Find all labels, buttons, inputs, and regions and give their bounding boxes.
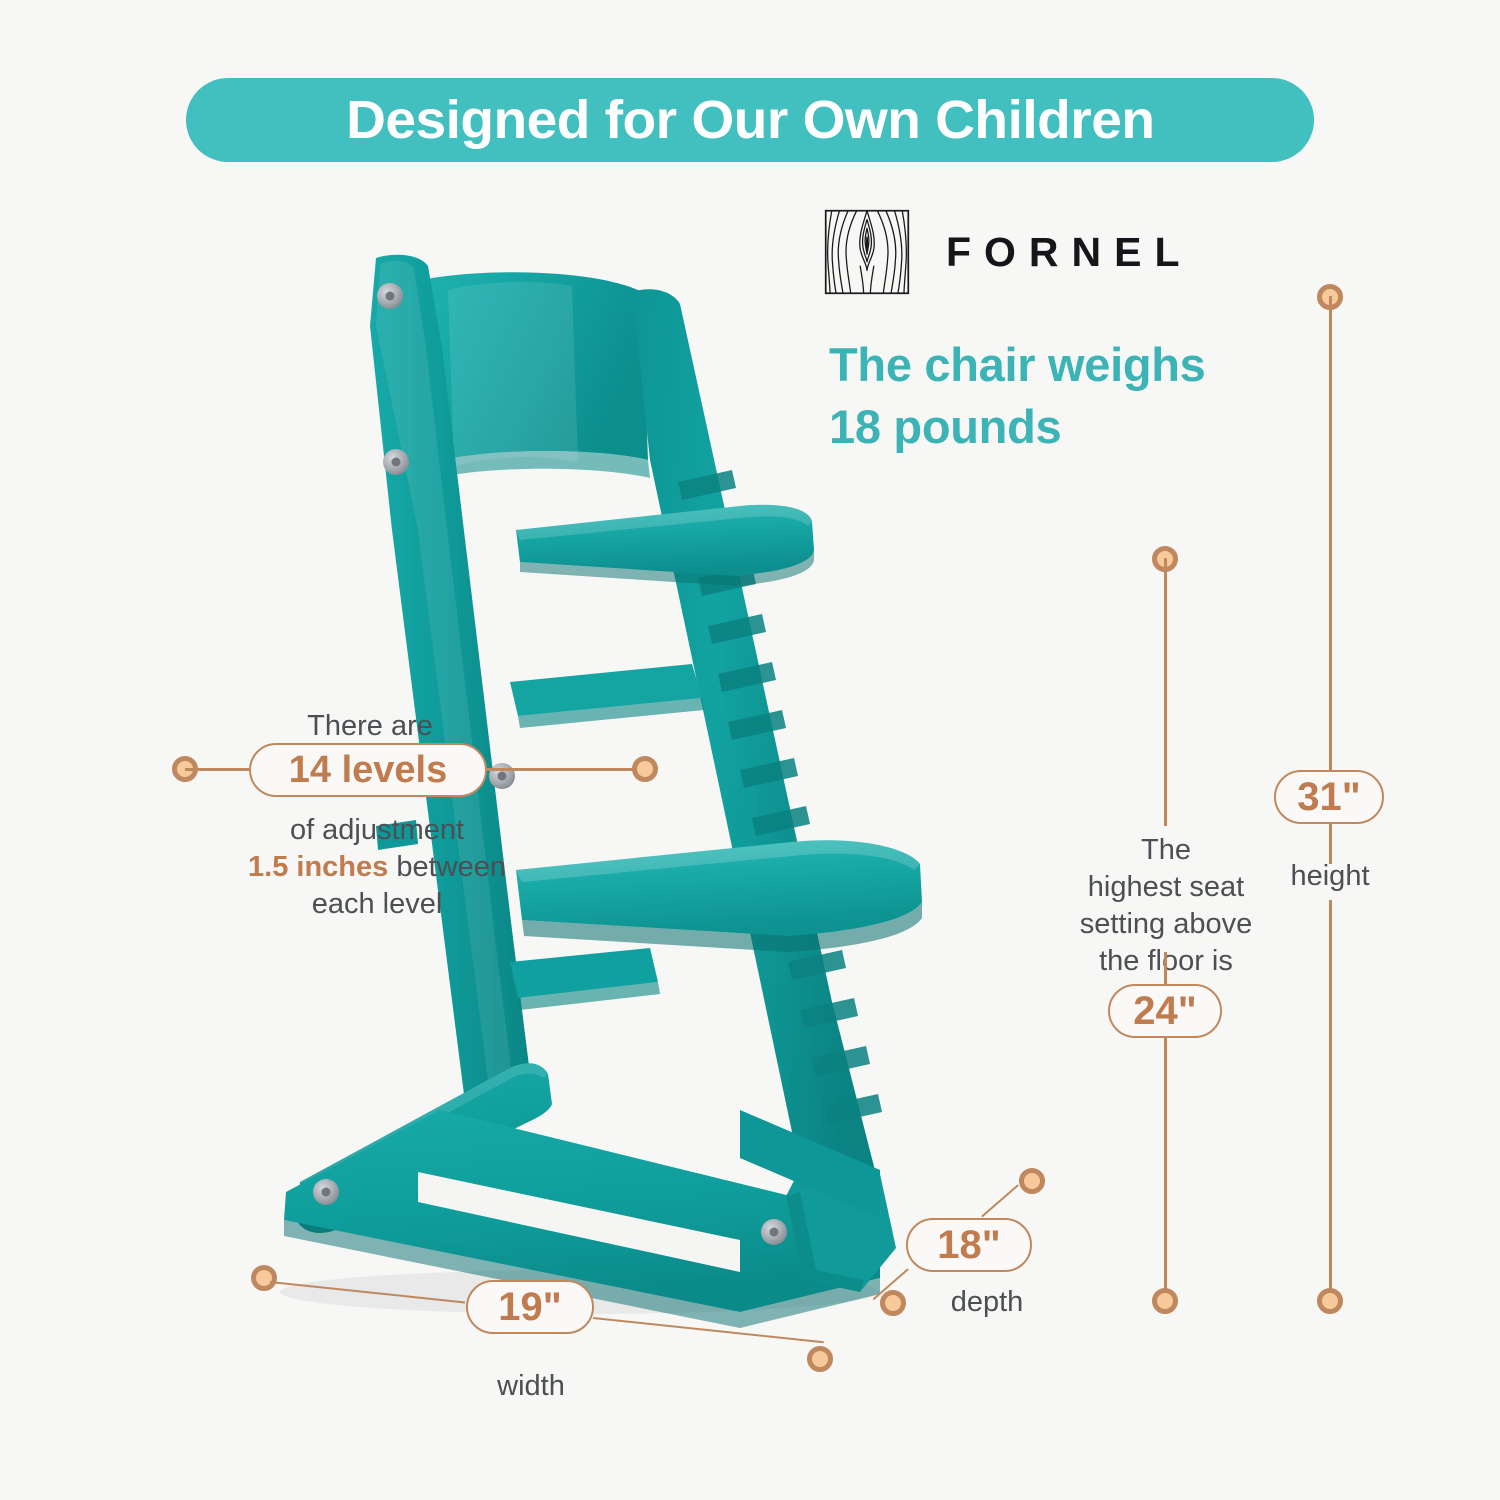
levels-leader-line-right <box>485 768 645 771</box>
levels-value: 14 levels <box>289 749 447 792</box>
width-value: 19" <box>498 1285 561 1330</box>
depth-dim-line-upper <box>981 1184 1019 1217</box>
seat-height-dim-dot-bottom <box>1152 1288 1178 1314</box>
levels-detail-line-2: 1.5 inches between <box>232 849 522 886</box>
weight-line-2: 18 pounds <box>829 396 1349 458</box>
header-banner: Designed for Our Own Children <box>186 78 1314 162</box>
depth-value: 18" <box>937 1223 1000 1268</box>
levels-value-pill: 14 levels <box>249 743 487 797</box>
seat-height-note-line-3: setting above <box>1060 906 1272 943</box>
seat-height-dim-line-lower <box>1164 1038 1167 1296</box>
height-label: height <box>1256 858 1404 895</box>
brand-name: FORNEL <box>946 229 1193 276</box>
levels-detail-line-1: of adjustment <box>232 812 522 849</box>
page-title: Designed for Our Own Children <box>346 89 1154 151</box>
depth-label: depth <box>918 1284 1056 1321</box>
seat-height-dim-line-mid <box>1164 952 1167 984</box>
depth-dim-dot-lower <box>880 1290 906 1316</box>
chair-weight-note: The chair weighs 18 pounds <box>829 334 1349 458</box>
levels-detail-line-1b: between <box>388 851 506 883</box>
height-value-pill: 31" <box>1274 770 1384 824</box>
infographic-canvas: Designed for Our Own Children <box>0 0 1500 1500</box>
depth-value-pill: 18" <box>906 1218 1032 1272</box>
depth-dim-dot-upper <box>1019 1168 1045 1194</box>
levels-detail-line-3: each level <box>232 886 522 923</box>
wood-grain-square-icon <box>824 209 910 295</box>
height-dim-line-upper <box>1329 296 1332 770</box>
seat-height-note-line-1: The <box>1060 832 1272 869</box>
height-dim-line-lower <box>1329 900 1332 1296</box>
width-dim-dot-left <box>251 1265 277 1291</box>
levels-detail-text: of adjustment 1.5 inches between each le… <box>232 812 522 923</box>
levels-leader-line-left <box>185 768 257 771</box>
weight-line-1: The chair weighs <box>829 334 1349 396</box>
width-dim-dot-right <box>807 1346 833 1372</box>
levels-leader-dot-right <box>632 756 658 782</box>
levels-intro-text: There are <box>242 708 498 745</box>
height-value: 31" <box>1297 775 1360 820</box>
seat-height-value: 24" <box>1133 989 1196 1034</box>
levels-gap-value: 1.5 inches <box>248 851 388 883</box>
seat-height-value-pill: 24" <box>1108 984 1222 1038</box>
seat-height-dim-line-upper <box>1164 558 1167 826</box>
brand-block: FORNEL <box>824 209 1193 295</box>
seat-height-note-line-2: highest seat <box>1060 869 1272 906</box>
width-value-pill: 19" <box>466 1280 594 1334</box>
height-dim-dot-bottom <box>1317 1288 1343 1314</box>
width-label: width <box>455 1368 607 1405</box>
